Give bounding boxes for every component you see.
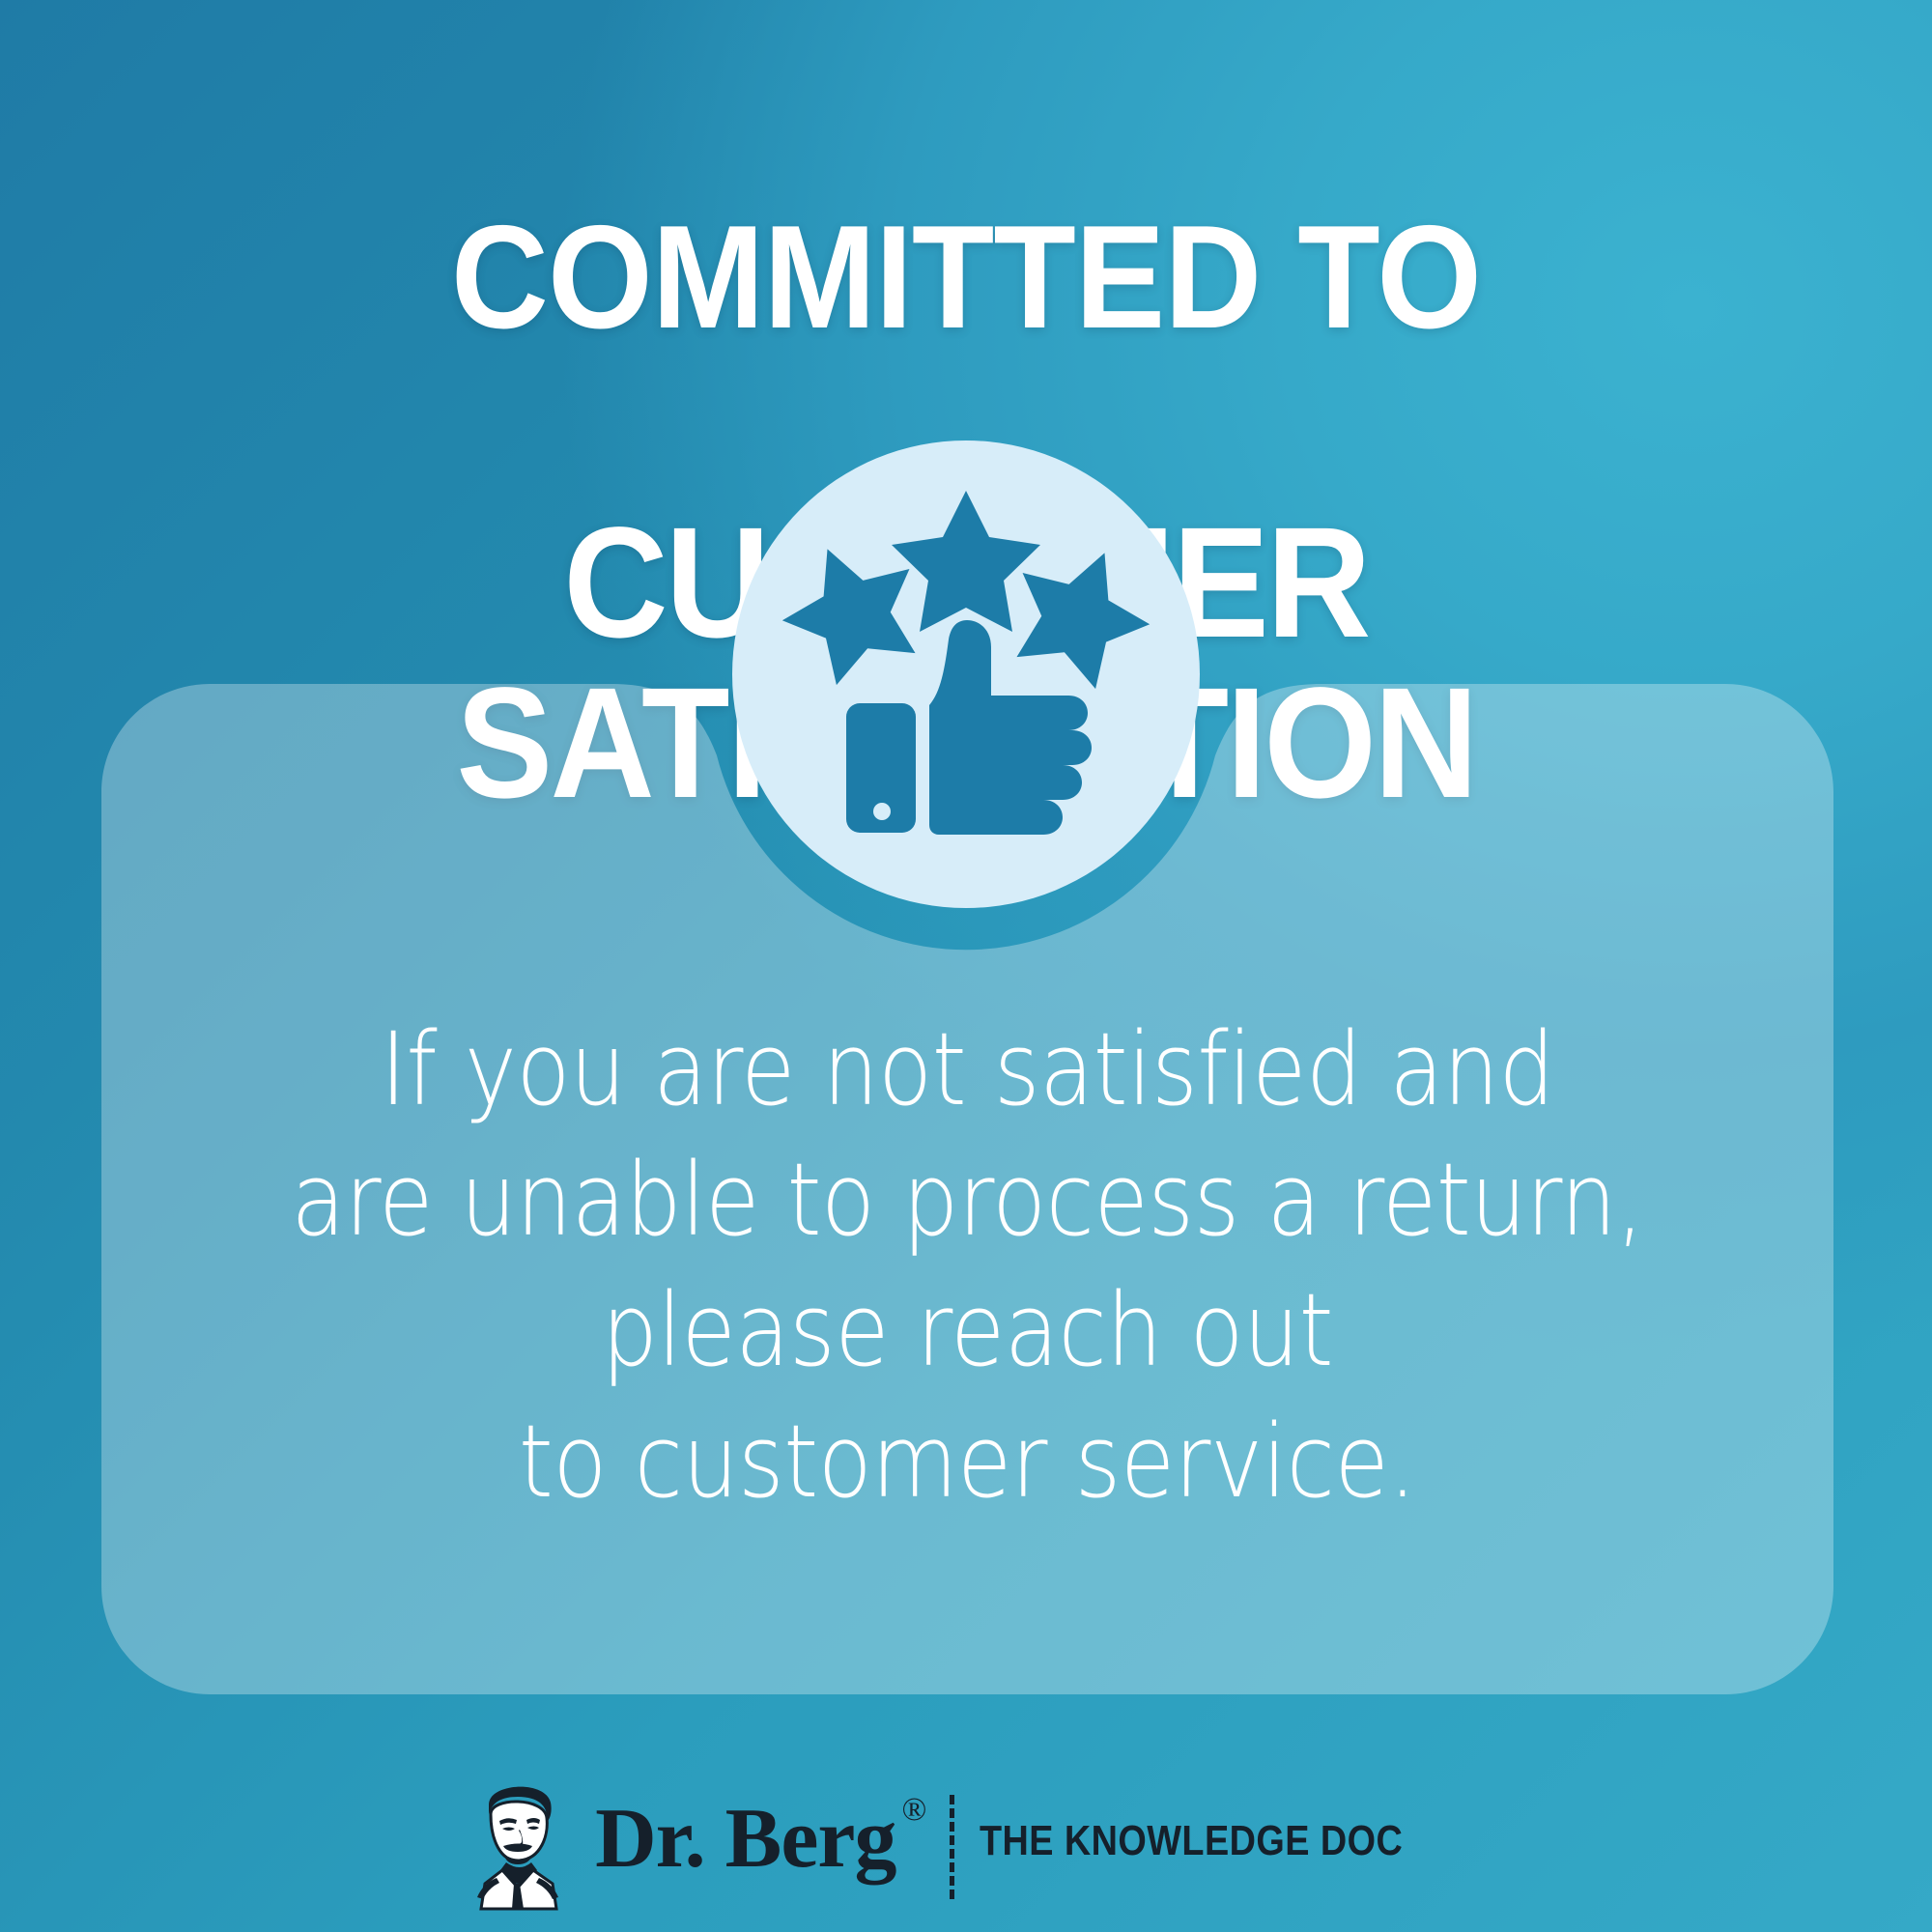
content-card bbox=[0, 0, 1932, 1932]
satisfaction-badge bbox=[732, 440, 1200, 908]
brand-name: Dr. Berg bbox=[595, 1797, 895, 1882]
poster-canvas: COMMITTED TO CUSTOMER SATISFACTION If yo… bbox=[0, 0, 1932, 1932]
brand-lockup: Dr. Berg ® THE KNOWLEDGE DOC bbox=[0, 1776, 1932, 1911]
brand-tagline: THE KNOWLEDGE DOC bbox=[980, 1817, 1403, 1865]
registered-trademark-icon: ® bbox=[901, 1792, 926, 1829]
body-text: If you are not satisfied and are unable … bbox=[206, 1005, 1730, 1527]
thumbs-up-three-stars-icon bbox=[732, 440, 1200, 908]
dr-berg-portrait-icon bbox=[460, 1776, 574, 1911]
logo-divider bbox=[950, 1795, 954, 1899]
